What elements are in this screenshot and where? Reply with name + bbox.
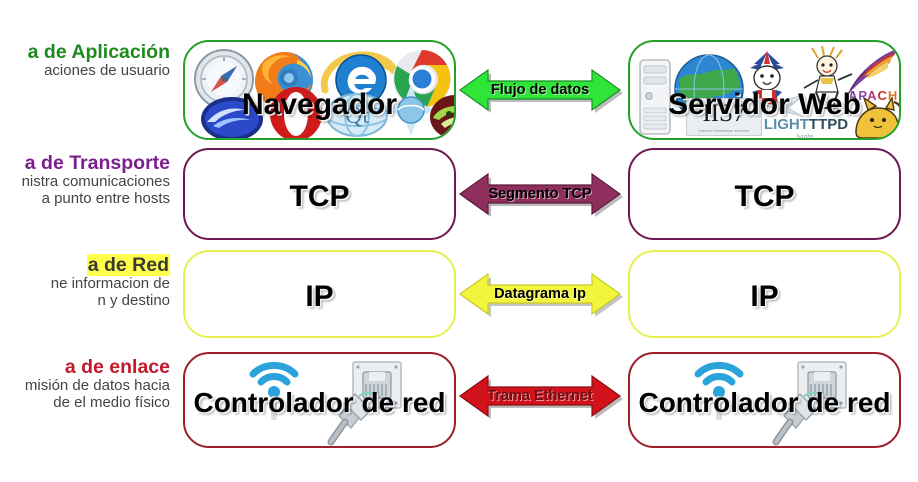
arrow-label-trama-ethernet: Trama Ethernet — [460, 388, 620, 404]
layer-desc-red: ne informacion de n y destino — [0, 276, 170, 310]
node-controlador-red-left[interactable]: Controlador de red — [183, 352, 456, 448]
layer-desc-line: ne informacion de — [0, 276, 170, 293]
arrow-trama-ethernet: Trama Ethernet — [460, 370, 620, 422]
layer-title-red: a de Red — [0, 255, 170, 275]
node-label-controlador-red-right: Controlador de red — [630, 387, 899, 419]
layer-desc-aplicacion: aciones de usuario — [0, 63, 170, 80]
diagram-canvas: a de Aplicación aciones de usuario a de … — [0, 0, 918, 482]
node-tcp-right[interactable]: TCP — [628, 148, 901, 240]
layer-title-red-text: a de Red — [87, 254, 170, 276]
layer-desc-line: de el medio físico — [0, 395, 170, 412]
layer-desc-line: misión de datos hacia — [0, 378, 170, 395]
node-label-navegador: Navegador — [185, 88, 454, 122]
node-navegador[interactable]: Qt Navegador — [183, 40, 456, 140]
node-label-tcp-right: TCP — [630, 180, 899, 214]
arrow-segmento-tcp: Segmento TCP — [460, 168, 620, 220]
node-controlador-red-right[interactable]: Controlador de red — [628, 352, 901, 448]
layer-desc-line: n y destino — [0, 293, 170, 310]
layer-desc-line: aciones de usuario — [0, 63, 170, 80]
arrow-datagrama-ip: Datagrama Ip — [460, 268, 620, 320]
layer-label-enlace: a de enlace misión de datos hacia de el … — [0, 357, 170, 412]
arrow-label-datagrama-ip: Datagrama Ip — [460, 286, 620, 302]
node-label-ip-right: IP — [630, 280, 899, 314]
layer-label-red: a de Red ne informacion de n y destino — [0, 255, 170, 310]
node-servidor-web[interactable]: APACHE IIS7 internet information service… — [628, 40, 901, 140]
layer-desc-line: a punto entre hosts — [0, 191, 170, 208]
node-label-ip-left: IP — [185, 280, 454, 314]
node-label-servidor-web: Servidor Web — [630, 88, 899, 122]
layer-desc-transporte: nistra comunicaciones a punto entre host… — [0, 174, 170, 208]
layer-title-enlace: a de enlace — [0, 357, 170, 377]
layer-title-aplicacion: a de Aplicación — [0, 42, 170, 62]
arrow-flujo-de-datos: Flujo de datos — [460, 64, 620, 116]
node-label-tcp-left: TCP — [185, 180, 454, 214]
node-ip-left[interactable]: IP — [183, 250, 456, 338]
node-tcp-left[interactable]: TCP — [183, 148, 456, 240]
arrow-label-segmento-tcp: Segmento TCP — [460, 186, 620, 202]
layer-desc-enlace: misión de datos hacia de el medio físico — [0, 378, 170, 412]
layer-desc-line: nistra comunicaciones — [0, 174, 170, 191]
node-label-controlador-red-left: Controlador de red — [185, 387, 454, 419]
arrow-label-flujo-de-datos: Flujo de datos — [460, 82, 620, 98]
layer-label-aplicacion: a de Aplicación aciones de usuario — [0, 42, 170, 80]
layer-title-transporte: a de Transporte — [0, 153, 170, 173]
node-ip-right[interactable]: IP — [628, 250, 901, 338]
layer-label-transporte: a de Transporte nistra comunicaciones a … — [0, 153, 170, 208]
